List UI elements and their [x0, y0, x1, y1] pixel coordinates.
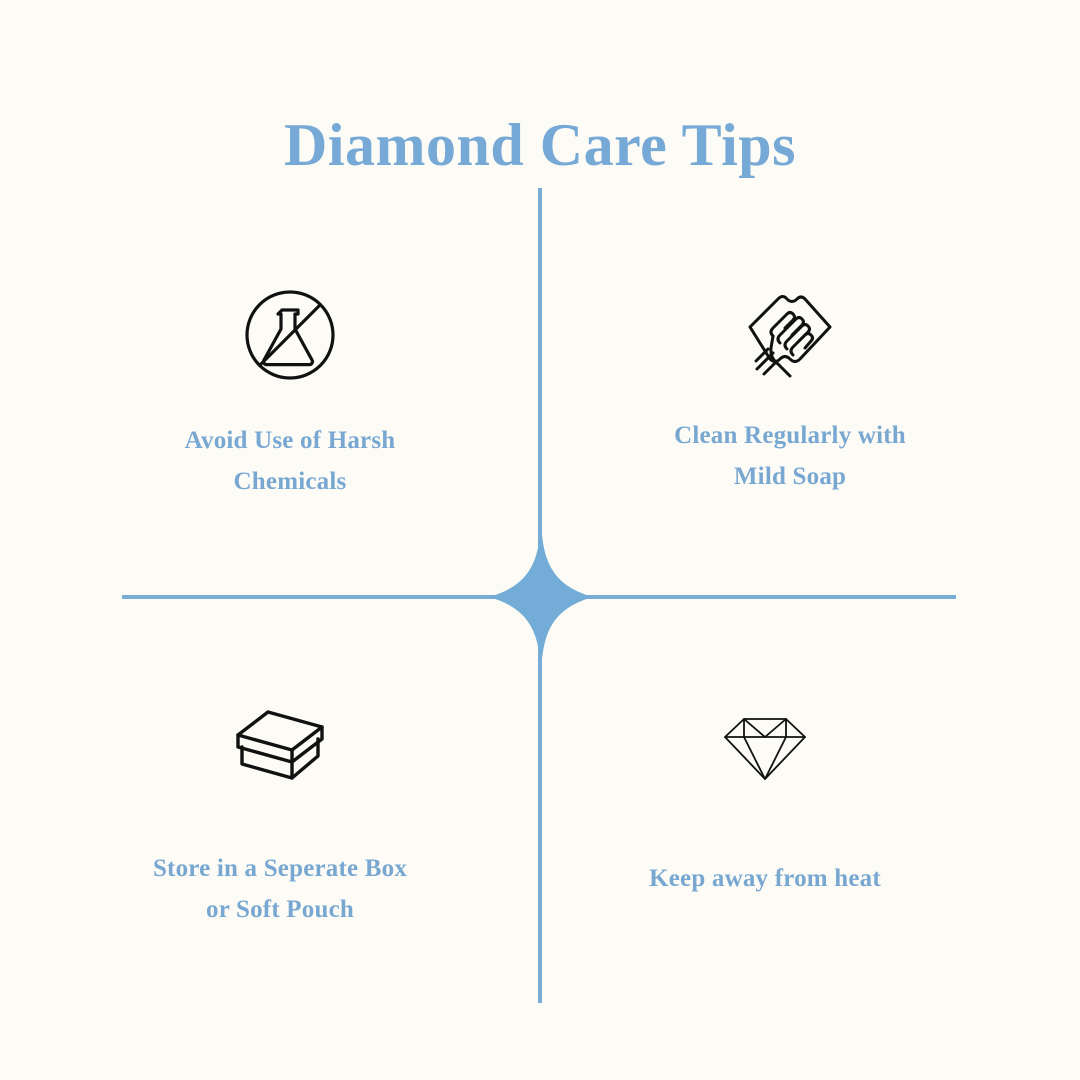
no-chemicals-icon: [40, 280, 540, 390]
tip-card-bottom-left: Store in a Seperate Box or Soft Pouch: [30, 690, 530, 930]
tip-label-top-left: Avoid Use of Harsh Chemicals: [40, 420, 540, 502]
page-title: Diamond Care Tips: [0, 110, 1080, 180]
tip-card-bottom-right: Keep away from heat: [515, 690, 1015, 899]
tip-label-top-right: Clean Regularly with Mild Soap: [540, 415, 1040, 497]
storage-box-icon: [30, 690, 530, 800]
hand-wiping-cloth-icon: [540, 280, 1040, 390]
tip-label-bottom-right: Keep away from heat: [515, 858, 1015, 899]
diamond-gem-icon: [515, 690, 1015, 800]
tip-card-top-right: Clean Regularly with Mild Soap: [540, 280, 1040, 497]
sparkle-icon: [489, 522, 593, 672]
poster-canvas: Diamond Care Tips Avoid Use of Harsh Che…: [0, 0, 1080, 1080]
tip-card-top-left: Avoid Use of Harsh Chemicals: [40, 280, 540, 502]
tip-label-bottom-left: Store in a Seperate Box or Soft Pouch: [30, 848, 530, 930]
